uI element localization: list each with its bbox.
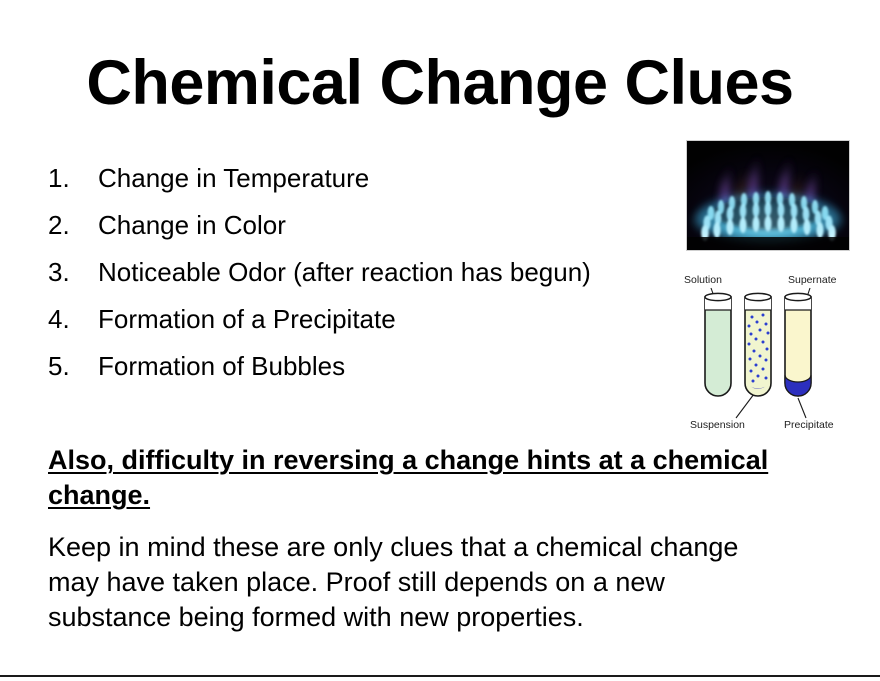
list-item: 1. Change in Temperature [48, 155, 668, 202]
clue-list: 1. Change in Temperature 2. Change in Co… [48, 155, 668, 390]
emphasis-statement: Also, difficulty in reversing a change h… [48, 443, 793, 513]
emphasis-line-2: change. [48, 480, 150, 510]
flame-illustration [687, 141, 849, 250]
list-item-label: Formation of Bubbles [98, 343, 668, 390]
closing-line-2: may have taken place. Proof still depend… [48, 565, 808, 600]
label-solution: Solution [684, 274, 722, 286]
list-item: 4. Formation of a Precipitate [48, 296, 668, 343]
list-item: 3. Noticeable Odor (after reaction has b… [48, 249, 668, 296]
closing-paragraph: Keep in mind these are only clues that a… [48, 530, 808, 635]
closing-line-1: Keep in mind these are only clues that a… [48, 530, 808, 565]
list-item: 5. Formation of Bubbles [48, 343, 668, 390]
emphasis-line-1: Also, difficulty in reversing a change h… [48, 445, 768, 475]
label-suspension: Suspension [690, 419, 745, 431]
list-item-number: 5. [48, 343, 98, 390]
label-supernate: Supernate [788, 274, 837, 286]
test-tube-comparison-diagram: Solution Supernate Suspension Precipitat… [676, 270, 866, 432]
list-item-label: Noticeable Odor (after reaction has begu… [98, 249, 668, 296]
suspension-tube [745, 293, 771, 396]
list-item-number: 1. [48, 155, 98, 202]
slide-canvas: Chemical Change Clues 1. Change in Tempe… [0, 0, 880, 681]
list-item-label: Change in Temperature [98, 155, 668, 202]
bottom-divider [0, 675, 880, 677]
label-precipitate: Precipitate [784, 419, 834, 431]
list-item-label: Formation of a Precipitate [98, 296, 668, 343]
solution-tube [705, 293, 731, 396]
list-item-number: 2. [48, 202, 98, 249]
closing-line-3: substance being formed with new properti… [48, 600, 808, 635]
supernate-tube [785, 293, 811, 396]
page-title: Chemical Change Clues [0, 50, 880, 116]
list-item-label: Change in Color [98, 202, 668, 249]
gas-burner-flame-photo [686, 140, 850, 251]
list-item-number: 3. [48, 249, 98, 296]
list-item: 2. Change in Color [48, 202, 668, 249]
list-item-number: 4. [48, 296, 98, 343]
